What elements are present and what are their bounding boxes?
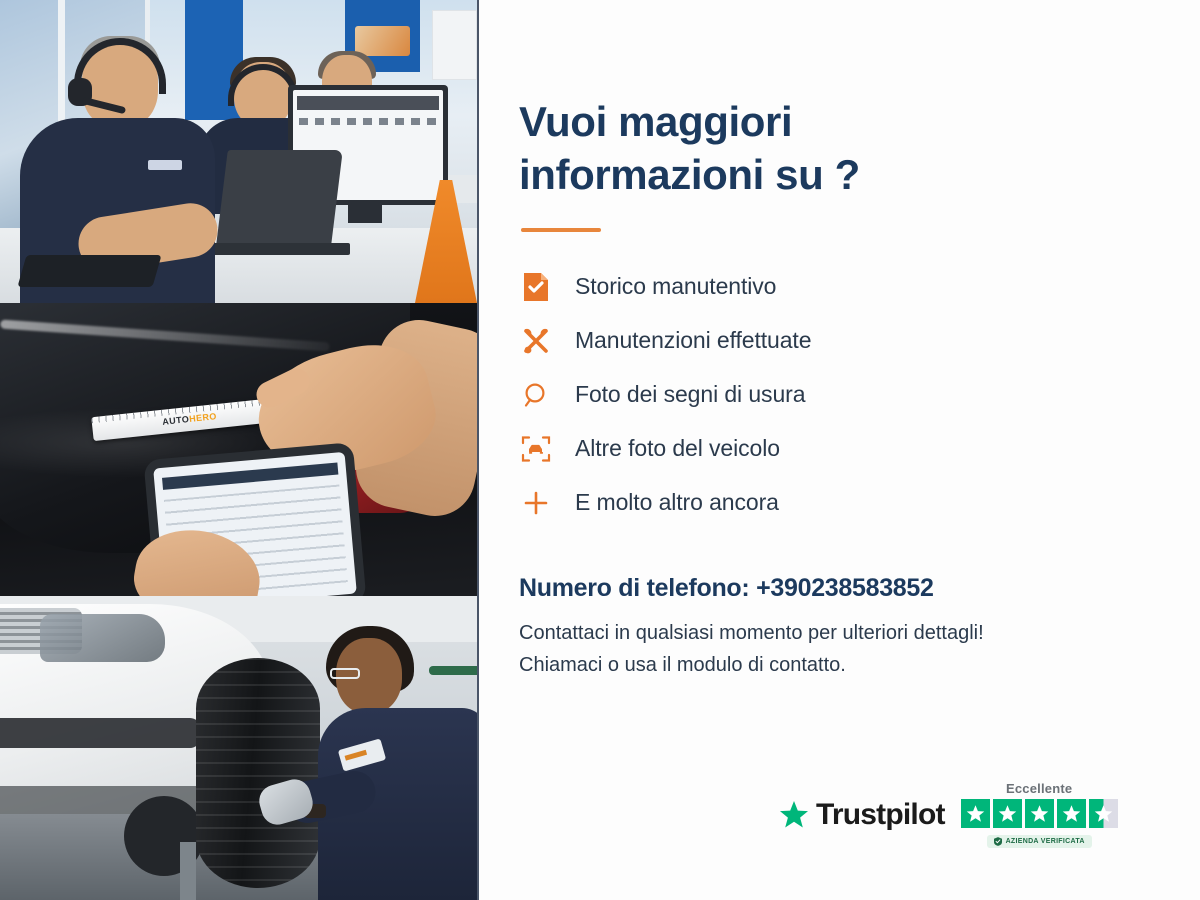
content-panel: Vuoi maggiori informazioni su ? Storico … [479,0,1200,900]
list-item: Foto dei segni di usura [519,368,1200,422]
list-item: E molto altro ancora [519,476,1200,530]
feature-label: Manutenzioni effettuate [575,327,811,354]
list-item: Altre foto del veicolo [519,422,1200,476]
contact-line-2: Chiamaci o usa il modulo di contatto. [519,649,1119,681]
mechanic-wheel-change-photo [0,596,477,900]
feature-label: Altre foto del veicolo [575,435,780,462]
trustpilot-stars [961,799,1118,828]
trustpilot-name: Trustpilot [816,798,945,832]
phone-line: Numero di telefono: +390238583852 [519,574,1200,603]
tools-cross-icon [519,324,553,358]
autohero-brand-a: AUTO [162,414,190,427]
list-item: Manutenzioni effettuate [519,314,1200,368]
star-1 [961,799,990,828]
feature-label: E molto altro ancora [575,489,779,516]
verified-text: AZIENDA VERIFICATA [1006,838,1085,845]
feature-label: Storico manutentivo [575,273,776,300]
trustpilot-score-block: Eccellente [961,781,1118,848]
star-2 [993,799,1022,828]
star-3 [1025,799,1054,828]
trustpilot-rating[interactable]: Trustpilot Eccellente [779,781,1118,848]
phone-number[interactable]: +390238583852 [756,574,934,602]
car-scan-icon [519,432,553,466]
accent-divider [521,228,601,232]
feature-list: Storico manutentivo Manutenzioni effettu… [519,260,1200,530]
list-item: Storico manutentivo [519,260,1200,314]
star-4 [1057,799,1086,828]
trustpilot-logo: Trustpilot [779,798,945,832]
page-title: Vuoi maggiori informazioni su ? [519,96,949,202]
document-check-icon [519,270,553,304]
verified-badge: AZIENDA VERIFICATA [987,835,1092,848]
star-5-half [1089,799,1118,828]
trustpilot-rating-label: Eccellente [1006,781,1072,796]
promo-banner: AUTOHERO Vuoi maggiori informazioni su ? [0,0,1200,900]
call-center-agents-photo [0,0,477,303]
shield-check-icon [994,837,1002,846]
autohero-brand-b: HERO [189,411,218,424]
contact-text: Contattaci in qualsiasi momento per ulte… [519,617,1119,682]
plus-icon [519,486,553,520]
feature-label: Foto dei segni di usura [575,381,805,408]
autohero-ruler-inspection-photo: AUTOHERO [0,303,477,596]
contact-line-1: Contattaci in qualsiasi momento per ulte… [519,617,1119,649]
photo-column: AUTOHERO [0,0,479,900]
phone-label: Numero di telefono: [519,574,749,602]
contact-block: Numero di telefono: +390238583852 Contat… [519,574,1200,682]
magnifier-icon [519,378,553,412]
trustpilot-star-icon [779,800,809,830]
